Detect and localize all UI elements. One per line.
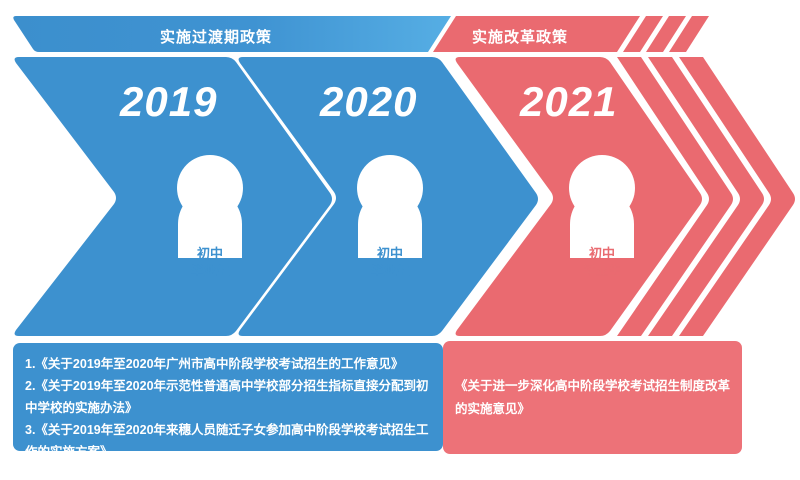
note-box-reform-policy: 《关于进一步深化高中阶段学校考试招生制度改革的实施意见》 bbox=[443, 341, 742, 454]
note-line: 《关于进一步深化高中阶段学校考试招生制度改革的实施意见》 bbox=[455, 375, 730, 421]
person-icon-2019 bbox=[177, 155, 243, 258]
year-label-2020: 2020 bbox=[320, 78, 417, 126]
note-box-transition-policies: 1.《关于2019年至2020年广州市高中阶段学校考试招生的工作意见》 2.《关… bbox=[13, 343, 443, 451]
banner-shape-reform bbox=[433, 16, 640, 52]
person-icon-2021 bbox=[569, 155, 635, 258]
person-icon-2020 bbox=[357, 155, 423, 258]
person-caption-2021: 初中 毕业生 bbox=[557, 245, 647, 279]
year-label-2019: 2019 bbox=[120, 78, 217, 126]
note-line: 1.《关于2019年至2020年广州市高中阶段学校考试招生的工作意见》 bbox=[25, 353, 431, 375]
note-line: 3.《关于2019年至2020年来穗人员随迁子女参加高中阶段学校考试招生工作的实… bbox=[25, 419, 431, 463]
person-caption-2019: 初中 毕业生 bbox=[165, 245, 255, 279]
infographic-canvas: 实施过渡期政策 实施改革政策 2019 2020 2021 初中 毕业生 初中 … bbox=[0, 0, 800, 480]
person-caption-2020: 初中 毕业生 bbox=[345, 245, 435, 279]
year-label-2021: 2021 bbox=[520, 78, 617, 126]
note-line: 2.《关于2019年至2020年示范性普通高中学校部分招生指标直接分配到初中学校… bbox=[25, 375, 431, 419]
banner-shape-transition bbox=[13, 16, 451, 52]
